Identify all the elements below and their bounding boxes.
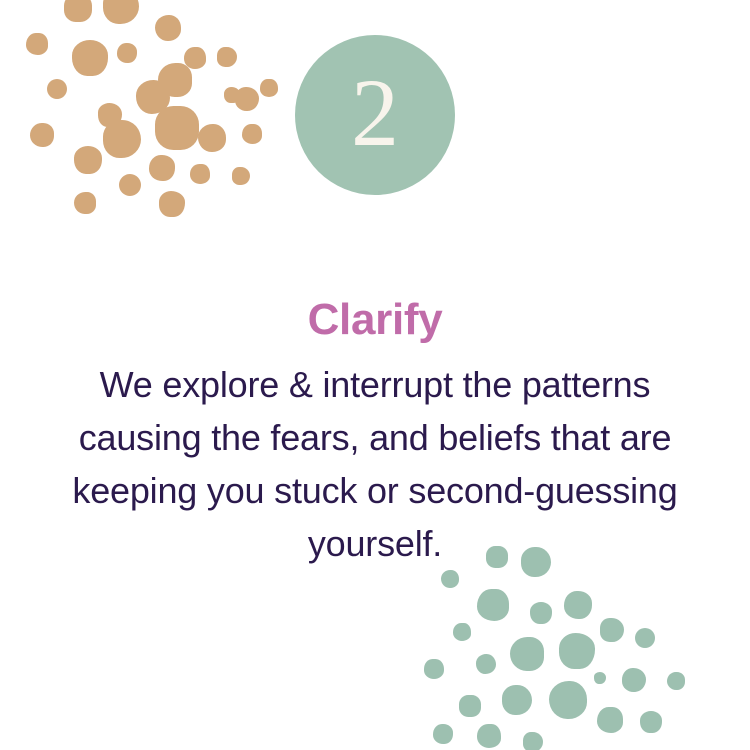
tan-dot (217, 47, 237, 67)
green-dot (459, 695, 481, 717)
tan-dot (74, 192, 96, 214)
tan-dot (74, 146, 102, 174)
tan-dot (103, 0, 139, 24)
green-dot (476, 654, 496, 674)
green-dot (549, 681, 587, 719)
green-dot (453, 623, 471, 641)
green-dot (433, 724, 453, 744)
green-dot (667, 672, 685, 690)
green-dot (597, 707, 623, 733)
green-dot (441, 570, 459, 588)
green-dot (510, 637, 544, 671)
tan-dot (235, 87, 259, 111)
tan-dot (198, 124, 226, 152)
tan-dot (184, 47, 206, 69)
tan-dot (155, 15, 181, 41)
green-dot (600, 618, 624, 642)
tan-dot (47, 79, 67, 99)
tan-dot (103, 120, 141, 158)
tan-dot (98, 103, 122, 127)
green-dot (424, 659, 444, 679)
green-dot (477, 724, 501, 748)
green-dot (559, 633, 595, 669)
tan-dot (119, 174, 141, 196)
green-dot (635, 628, 655, 648)
tan-dot (190, 164, 210, 184)
tan-dot (149, 155, 175, 181)
step-number-badge: 2 (295, 35, 455, 195)
green-dot (640, 711, 662, 733)
tan-dot (260, 79, 278, 97)
tan-dot (224, 87, 240, 103)
step-number-label: 2 (351, 65, 399, 161)
green-dot (502, 685, 532, 715)
body-description: We explore & interrupt the patterns caus… (45, 358, 705, 571)
green-dot (564, 591, 592, 619)
tan-dot (64, 0, 92, 22)
green-dot (530, 602, 552, 624)
tan-dot (72, 40, 108, 76)
tan-dot (158, 63, 192, 97)
tan-dot (136, 80, 170, 114)
green-dot (523, 732, 543, 750)
tan-dot (26, 33, 48, 55)
green-dot (622, 668, 646, 692)
page-title: Clarify (0, 296, 750, 344)
tan-dot (117, 43, 137, 63)
tan-dot (30, 123, 54, 147)
tan-dot (159, 191, 185, 217)
green-dot (477, 589, 509, 621)
tan-dot (242, 124, 262, 144)
tan-dot (155, 106, 199, 150)
green-dot (594, 672, 606, 684)
clarify-step-card: 2 Clarify We explore & interrupt the pat… (0, 0, 750, 750)
text-block: Clarify We explore & interrupt the patte… (0, 296, 750, 571)
tan-dot (232, 167, 250, 185)
